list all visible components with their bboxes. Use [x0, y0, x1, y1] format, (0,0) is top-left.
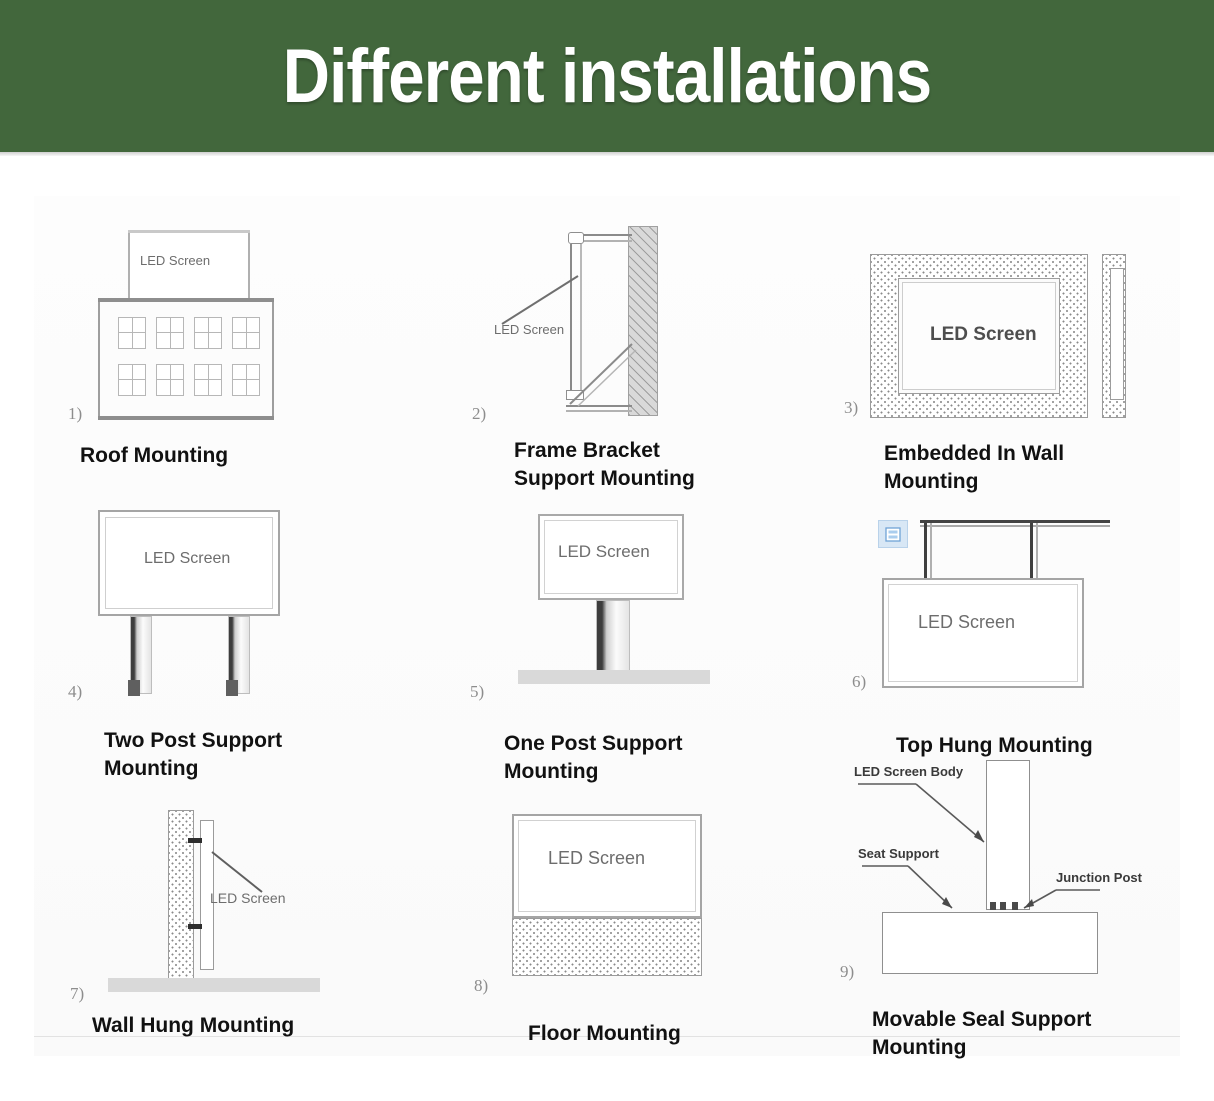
- annotation-junction-post: Junction Post: [1056, 870, 1142, 885]
- caption-floor-mounting: Floor Mounting: [528, 1020, 848, 1048]
- floor-base-block: [512, 918, 702, 976]
- building-roof-slab: [98, 298, 274, 302]
- ground-slab: [518, 670, 710, 684]
- bracket-diagonal-brace: [560, 342, 640, 414]
- hanging-beam: [920, 520, 1110, 523]
- post-foot-left: [128, 680, 140, 696]
- wall-bracket-top: [188, 838, 202, 843]
- seat-support-base: [882, 912, 1098, 974]
- building-window: [118, 364, 146, 396]
- floor-screen-label: LED Screen: [548, 848, 645, 869]
- wall-bracket-bottom: [188, 924, 202, 929]
- caption-two-post-support-mounting: Two Post Support Mounting: [104, 727, 434, 783]
- roof-screen-label: LED Screen: [140, 253, 210, 268]
- embedded-screen-label: LED Screen: [930, 324, 1037, 346]
- top-hung-screen-inner: [888, 584, 1078, 682]
- building-window: [194, 364, 222, 396]
- bracket-top-arm-2: [580, 240, 632, 242]
- caption-embedded-in-wall-mounting: Embedded In Wall Mounting: [884, 440, 1184, 496]
- building-window: [232, 364, 260, 396]
- building-window: [156, 317, 184, 349]
- annotation-seat-support: Seat Support: [858, 846, 939, 861]
- installations-grid: LED Screen: [0, 152, 1214, 1101]
- figure-number: 3): [844, 398, 858, 418]
- leader-led-screen-body: [854, 780, 1004, 852]
- one-post-screen-label: LED Screen: [558, 542, 650, 562]
- junction-bolt: [1000, 902, 1006, 910]
- screen-annotation-label: LED Screen: [494, 322, 564, 337]
- broken-image-glyph: [885, 527, 901, 542]
- caption-wall-hung-mounting: Wall Hung Mounting: [92, 1012, 432, 1040]
- broken-image-icon[interactable]: [878, 520, 908, 548]
- figure-number: 7): [70, 984, 84, 1004]
- page-title: Different installations: [283, 33, 931, 120]
- caption-one-post-support-mounting: One Post Support Mounting: [504, 730, 834, 786]
- bracket-top-arm: [580, 234, 632, 236]
- leader-seat-support: [858, 862, 964, 918]
- screen-annotation-label: LED Screen: [210, 890, 285, 906]
- top-hung-screen-label: LED Screen: [918, 612, 1015, 633]
- embedded-screen-side-slot: [1110, 268, 1124, 400]
- leader-junction-post: [1008, 886, 1104, 918]
- wall-stipple-vertical: [168, 810, 194, 982]
- caption-frame-bracket-support-mounting: Frame Bracket Support Mounting: [514, 437, 834, 493]
- hanger-right-2: [1036, 523, 1038, 579]
- annotation-led-screen-body: LED Screen Body: [854, 764, 963, 779]
- building-window: [156, 364, 184, 396]
- ground-slab: [108, 978, 320, 992]
- hanger-right: [1030, 523, 1033, 579]
- hanger-left: [924, 523, 927, 579]
- building-base-slab: [98, 416, 274, 420]
- figure-number: 5): [470, 682, 484, 702]
- figure-floor-mounting: LED Screen 8): [460, 792, 800, 1052]
- building-window: [232, 317, 260, 349]
- caption-roof-mounting: Roof Mounting: [80, 442, 400, 470]
- hanging-beam-shadow: [920, 525, 1110, 527]
- building-window: [118, 317, 146, 349]
- post-foot-right: [226, 680, 238, 696]
- two-post-screen-label: LED Screen: [144, 550, 230, 568]
- building-window: [194, 317, 222, 349]
- caption-movable-seal-support-mounting: Movable Seal Support Mounting: [872, 1006, 1192, 1062]
- roof-screen-top-edge: [128, 230, 250, 233]
- support-post-center: [596, 600, 630, 672]
- figure-number: 9): [840, 962, 854, 982]
- figure-number: 2): [472, 404, 486, 424]
- figure-number: 6): [852, 672, 866, 692]
- figure-number: 4): [68, 682, 82, 702]
- figure-number: 1): [68, 404, 82, 424]
- screen-top-cap: [568, 232, 584, 244]
- hanger-left-2: [930, 523, 932, 579]
- figure-number: 8): [474, 976, 488, 996]
- page-header: Different installations: [0, 0, 1214, 152]
- figure-movable-seal-support-mounting: LED Screen Body Seat Support Junction Po…: [840, 750, 1180, 1020]
- junction-bolt: [990, 902, 996, 910]
